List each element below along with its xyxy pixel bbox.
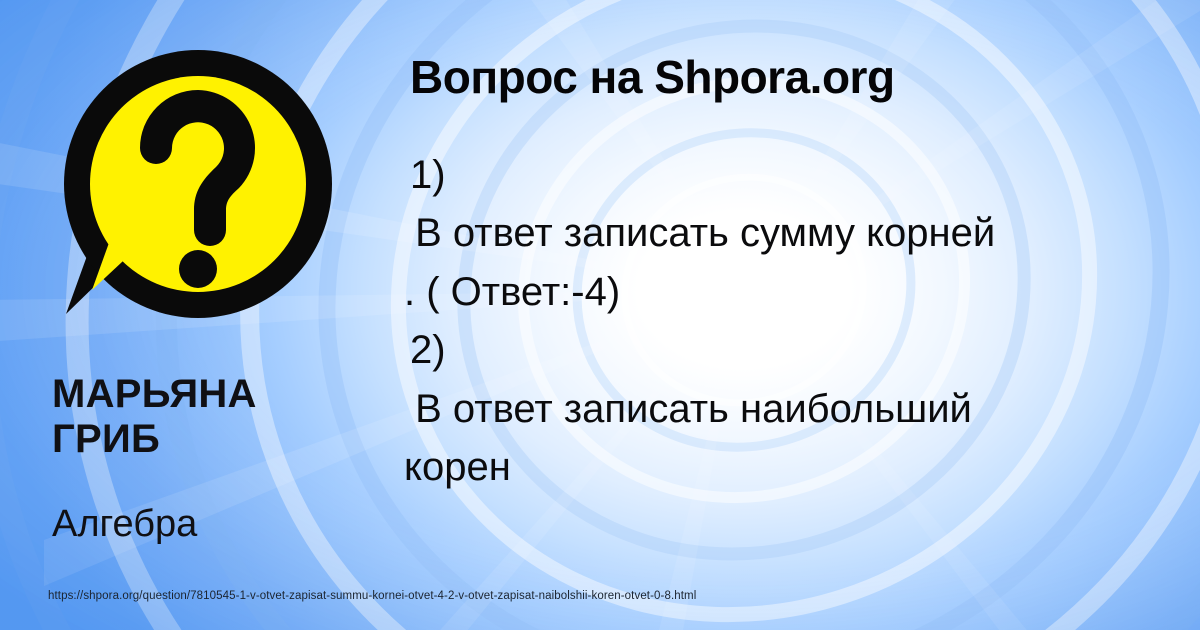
source-url[interactable]: https://shpora.org/question/7810545-1-v-… (48, 590, 696, 602)
author-name: МАРЬЯНА ГРИБ (52, 372, 382, 462)
question-line-4: 2) (396, 321, 1200, 379)
question-line-5: В ответ записать наибольший (396, 380, 1200, 438)
author-name-line-2: ГРИБ (52, 417, 160, 461)
author-name-line-1: МАРЬЯНА (52, 372, 257, 416)
question-bubble (48, 46, 348, 336)
question-line-2: В ответ записать сумму корней (396, 204, 1200, 262)
left-column: МАРЬЯНА ГРИБ Алгебра (0, 0, 392, 630)
question-speech-bubble-icon (48, 46, 348, 336)
question-line-1: 1) (396, 146, 1200, 204)
question-line-3: . ( Ответ:-4) (396, 263, 1200, 321)
page-title: Вопрос на Shpora.org (410, 50, 895, 104)
question-body: 1) В ответ записать сумму корней . ( Отв… (396, 146, 1200, 496)
question-share-card: МАРЬЯНА ГРИБ Алгебра Вопрос на Shpora.or… (0, 0, 1200, 630)
question-line-6: корен (396, 438, 1200, 496)
right-column: Вопрос на Shpora.org 1) В ответ записать… (396, 0, 1200, 630)
subject-label: Алгебра (52, 504, 197, 546)
